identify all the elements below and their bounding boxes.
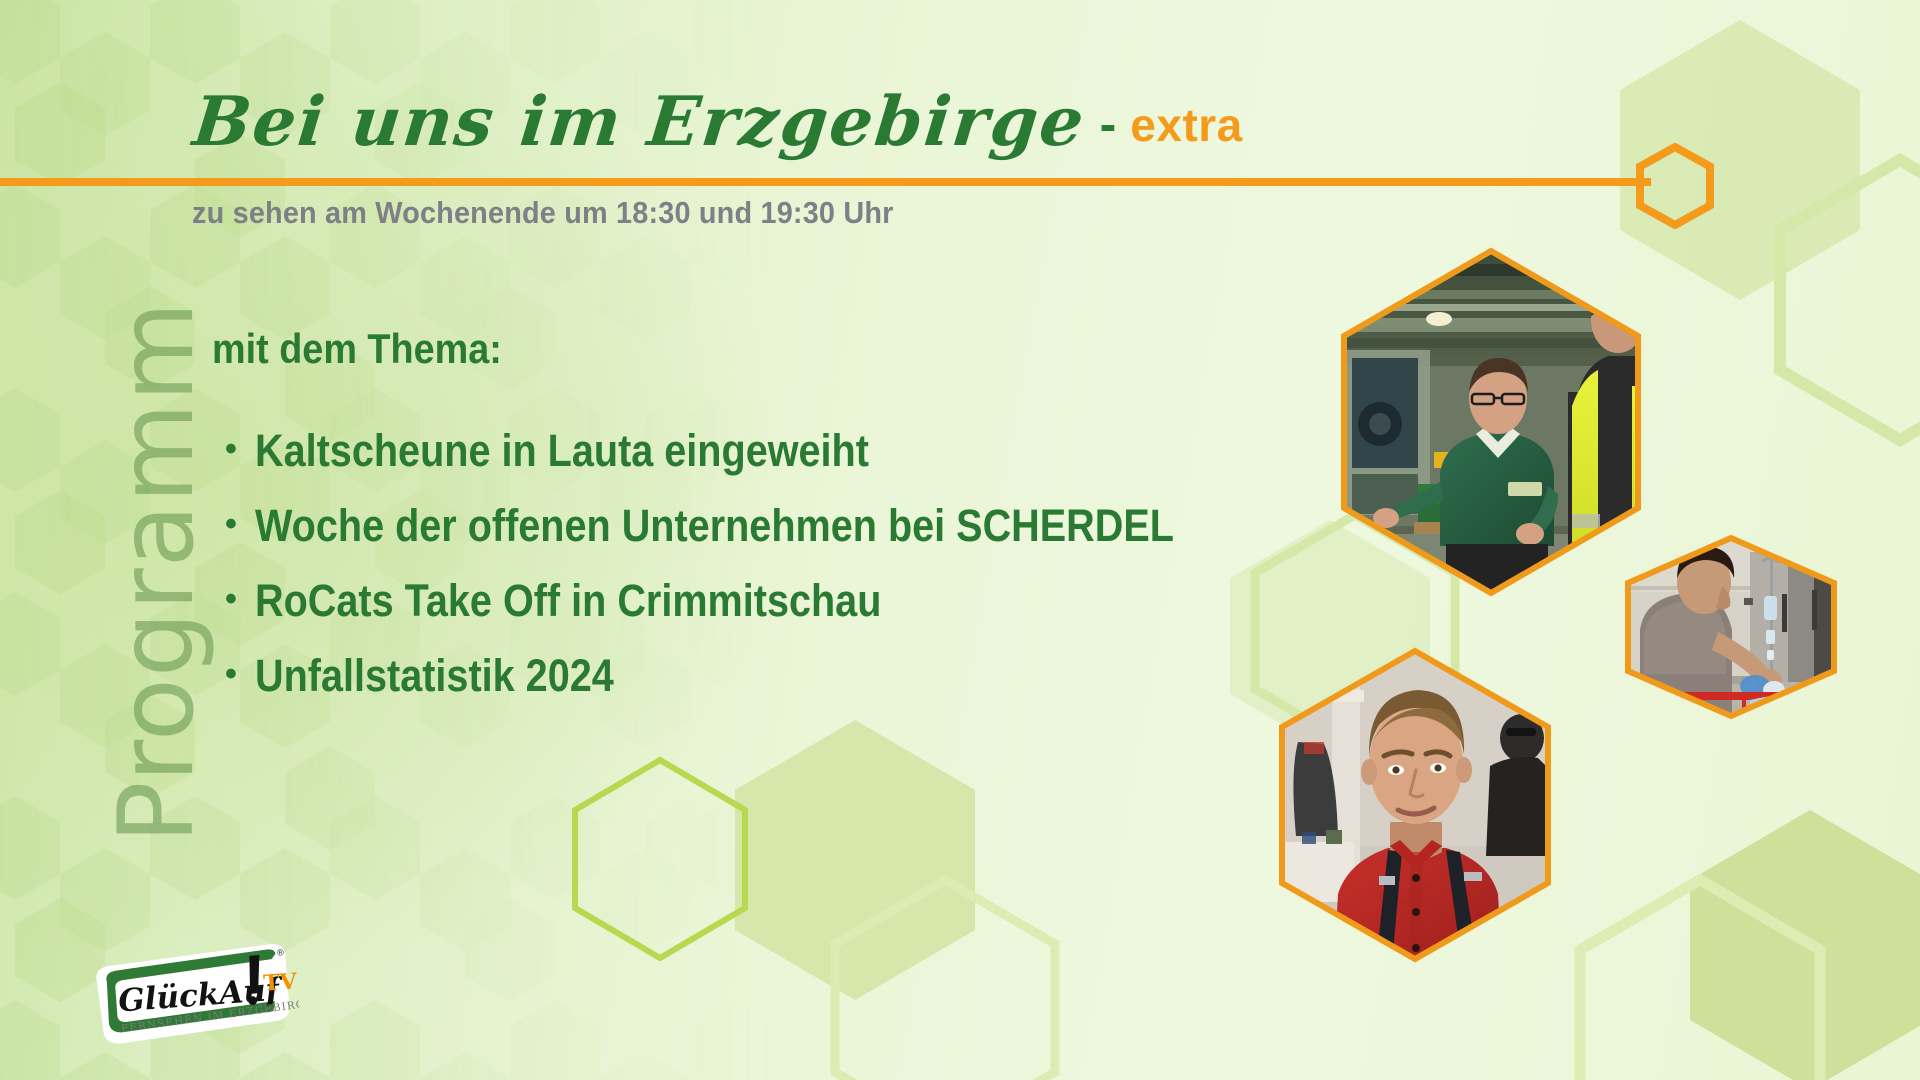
bullet-icon: •: [225, 507, 255, 541]
medical-training-photo: [1622, 534, 1840, 720]
bullet-icon: •: [225, 432, 255, 466]
topic-list: • Kaltscheune in Lauta eingeweiht • Woch…: [225, 425, 1299, 725]
topic-intro-label: mit dem Thema:: [212, 325, 502, 373]
list-item-label: RoCats Take Off in Crimmitschau: [255, 575, 881, 627]
list-item: • Unfallstatistik 2024: [225, 650, 1299, 702]
hexagon-filled-icon: [735, 720, 975, 1000]
list-item-label: Kaltscheune in Lauta eingeweiht: [255, 425, 869, 477]
page-title-script: Bei uns im Erzgebirge: [190, 88, 1089, 156]
hexagon-outline-icon: [575, 760, 745, 958]
logo-registered-mark: ®: [277, 947, 285, 957]
list-item-label: Woche der offenen Unternehmen bei SCHERD…: [255, 500, 1174, 552]
page-title-accent: extra: [1130, 98, 1242, 152]
vertical-section-label: Programm: [97, 222, 217, 922]
factory-tour-photo: [1336, 246, 1646, 598]
rule-end-hexagon-icon: [1636, 143, 1714, 229]
page-title: Bei uns im Erzgebirge - extra: [190, 88, 1243, 157]
list-item: • Woche der offenen Unternehmen bei SCHE…: [225, 500, 1299, 552]
list-item: • Kaltscheune in Lauta eingeweiht: [225, 425, 1299, 477]
page-title-dash: -: [1100, 95, 1117, 153]
bullet-icon: •: [225, 657, 255, 691]
list-item-label: Unfallstatistik 2024: [255, 650, 614, 702]
list-item: • RoCats Take Off in Crimmitschau: [225, 575, 1299, 627]
broadcast-time-subtitle: zu sehen am Wochenende um 18:30 und 19:3…: [192, 195, 894, 231]
broadcast-slide: Bei uns im Erzgebirge - extra zu sehen a…: [0, 0, 1920, 1080]
logo-tv-label: TV: [262, 968, 298, 996]
bullet-icon: •: [225, 582, 255, 616]
portrait-red-shirt-photo: [1276, 646, 1554, 964]
glueckauf-tv-logo[interactable]: GlückAuf TV ® FERNSEHEN IM ERZGEBIRGE: [85, 940, 301, 1047]
title-underline-rule: [0, 178, 1651, 186]
